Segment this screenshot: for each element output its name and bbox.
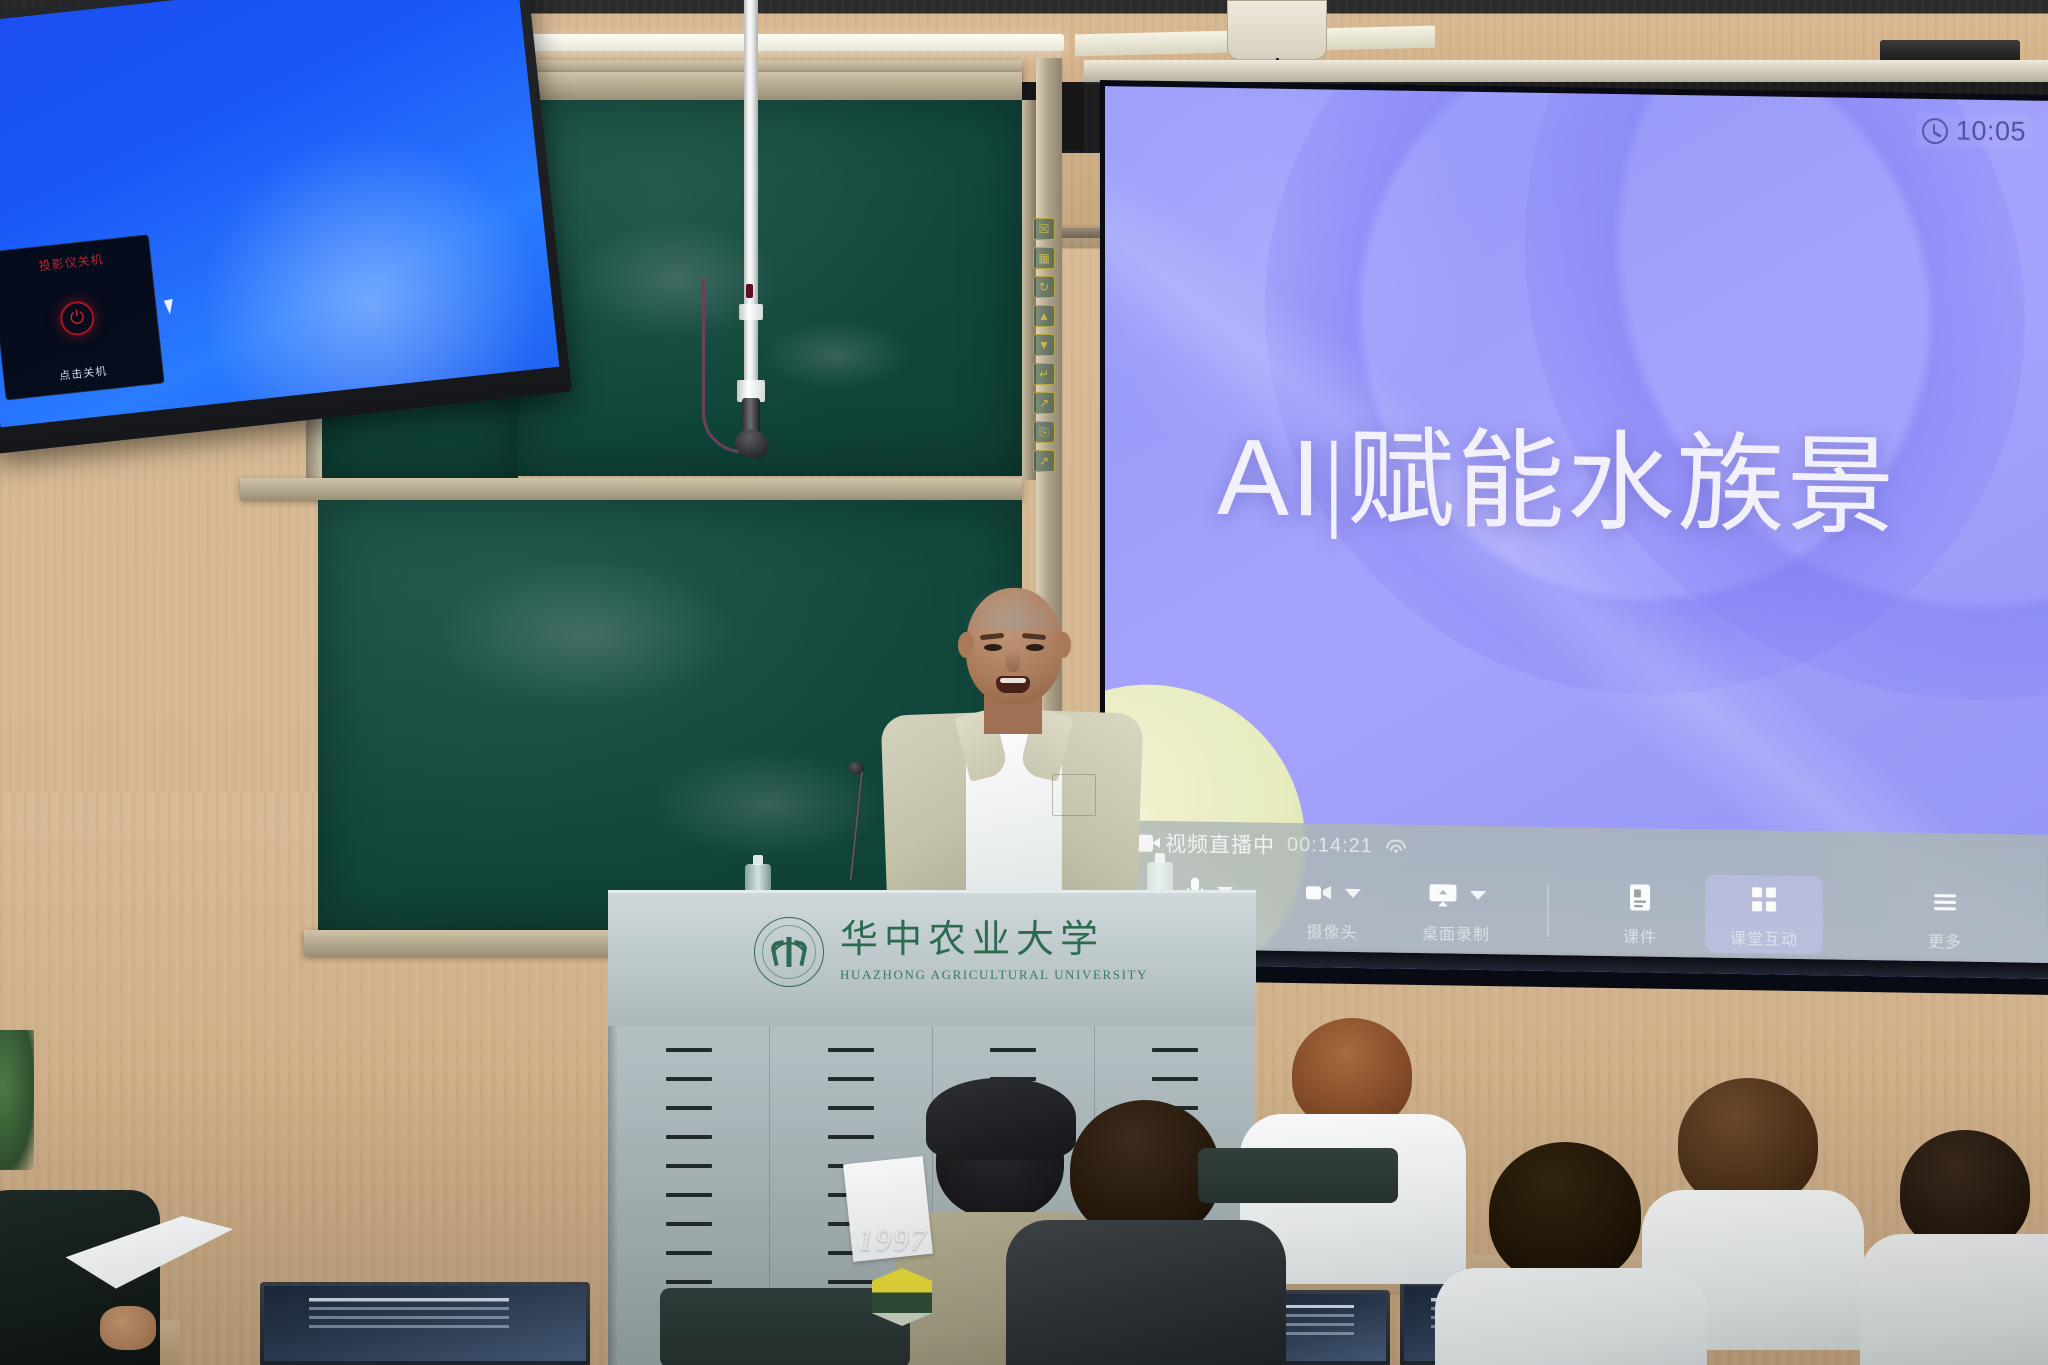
chair-back-rest [1198, 1148, 1398, 1203]
university-name-en: HUAZHONG AGRICULTURAL UNIVERSITY [840, 967, 1148, 983]
speaker-mouth [996, 676, 1030, 693]
toolbar-button-screen-share[interactable]: 桌面录制 [1397, 870, 1515, 950]
toolbar-label-classroom-interaction: 课堂互动 [1730, 925, 1798, 950]
clock-time: 10:05 [1956, 115, 2026, 147]
speaker-ear-left [958, 632, 974, 658]
chalkboard-control-stickers[interactable]: ☒ ▦ ↻ ▲ ▼ ↵ ↗ ⎘ ↗ [1033, 218, 1055, 472]
student-head [1489, 1142, 1641, 1284]
toolbar-button-more[interactable]: 更多 [1886, 877, 2004, 957]
slide-clock: 10:05 [1916, 113, 2032, 150]
down-arrow-icon[interactable]: ▼ [1033, 334, 1055, 356]
speaker-nose [1006, 650, 1020, 672]
toolbar-label-screen-share: 桌面录制 [1422, 920, 1490, 945]
projection-screen[interactable]: 10:05 AI|赋能水族景 视频直播中 00:14:21 [1100, 80, 2048, 995]
power-icon[interactable]: ⏻ [58, 299, 95, 336]
microphone-status-led [746, 284, 753, 298]
toolbar-button-camera[interactable]: 摄像头 [1273, 868, 1391, 948]
jacket-year-text: 1997 [858, 1222, 928, 1258]
speaker-eye-right [1026, 644, 1044, 651]
chalkboard-middle-rail [240, 478, 1022, 500]
projection-screen-housing [1084, 60, 2048, 82]
lecture-hall-scene: ☒ ▦ ↻ ▲ ▼ ↵ ↗ ⎘ ↗ 投影仪关机 ⏻ 点击关机 [0, 0, 2048, 1365]
plant-foliage [0, 1030, 34, 1170]
camera-icon [1304, 875, 1334, 909]
student-head [1678, 1078, 1818, 1208]
laptop-left-wide[interactable] [260, 1282, 590, 1365]
person-hand [100, 1306, 156, 1350]
wall-monitor-left[interactable]: 投影仪关机 ⏻ 点击关机 [0, 0, 572, 454]
chevron-down-icon[interactable] [1470, 890, 1486, 899]
student-torso [1435, 1268, 1707, 1365]
slide-title-body: 赋能水族景 [1347, 421, 1897, 549]
ceiling-air-vent-icon [1227, 0, 1327, 60]
speaker-presenter [880, 588, 1142, 908]
university-logo: 华中农业大学 HUAZHONG AGRICULTURAL UNIVERSITY [754, 917, 1148, 987]
refresh-icon[interactable]: ↻ [1033, 276, 1055, 298]
grid-icon[interactable]: ▦ [1033, 247, 1055, 269]
toolbar-label-courseware: 课件 [1623, 923, 1657, 948]
speaker-ear-right [1055, 632, 1071, 658]
toolbar-divider [1547, 885, 1549, 937]
courseware-icon [1627, 880, 1653, 914]
student-torso [1860, 1234, 2048, 1365]
dialog-subtitle: 点击关机 [59, 363, 108, 384]
clock-icon [1922, 117, 1948, 143]
cursor-arrow-icon [164, 297, 178, 314]
wifi-icon [1385, 838, 1407, 854]
toolbar-label-camera: 摄像头 [1306, 918, 1357, 943]
toolbar-button-courseware[interactable]: 课件 [1581, 873, 1699, 953]
toolbar-label-more: 更多 [1928, 928, 1962, 953]
ceiling-sensor-bar [1880, 40, 2020, 62]
share-icon[interactable]: ↗ [1033, 450, 1055, 472]
student-torso [1006, 1220, 1286, 1365]
screen-share-icon [1427, 877, 1459, 912]
page-title: AI|赋能水族景 [1217, 418, 1897, 549]
mic-pole-joint-upper [739, 304, 763, 320]
gooseneck-microphone-head-icon [848, 762, 864, 774]
university-name-cn: 华中农业大学 [840, 921, 1148, 959]
slide-title-prefix: AI [1217, 416, 1323, 539]
hamburger-menu-icon [1930, 885, 1960, 919]
audience-student-right-front [1455, 1142, 1685, 1365]
toolbar-spacer [1829, 915, 1880, 916]
university-crest-icon [754, 917, 824, 987]
up-arrow-icon[interactable]: ▲ [1033, 305, 1055, 327]
dialog-title: 投影仪关机 [38, 250, 104, 274]
export-icon[interactable]: ↗ [1033, 392, 1055, 414]
audience-student-far-right [1870, 1130, 2048, 1365]
grid-apps-icon [1749, 882, 1779, 916]
projected-slide[interactable]: 10:05 AI|赋能水族景 视频直播中 00:14:21 [1105, 86, 2048, 979]
speaker-hair [964, 584, 1064, 630]
trash-icon[interactable]: ☒ [1033, 218, 1055, 240]
podium-top-surface: 华中农业大学 HUAZHONG AGRICULTURAL UNIVERSITY [608, 890, 1256, 1026]
import-icon[interactable]: ↵ [1033, 363, 1055, 385]
livestream-timer: 00:14:21 [1287, 833, 1373, 857]
livestream-status-label: 视频直播中 [1165, 828, 1275, 860]
toolbar-button-classroom-interaction[interactable]: 课堂互动 [1705, 875, 1823, 955]
chevron-down-icon[interactable] [1345, 888, 1361, 897]
audience-student-center-front [1030, 1100, 1260, 1365]
speaker-eye-left [984, 644, 1002, 651]
slide-title-divider: | [1323, 421, 1347, 540]
monitor-screen[interactable]: 投影仪关机 ⏻ 点击关机 [0, 0, 559, 427]
projector-shutdown-dialog[interactable]: 投影仪关机 ⏻ 点击关机 [0, 234, 165, 400]
speaker-shirt-pocket [1052, 774, 1096, 816]
copy-icon[interactable]: ⎘ [1033, 421, 1055, 443]
chalkboard-upper-panel [512, 100, 1022, 476]
